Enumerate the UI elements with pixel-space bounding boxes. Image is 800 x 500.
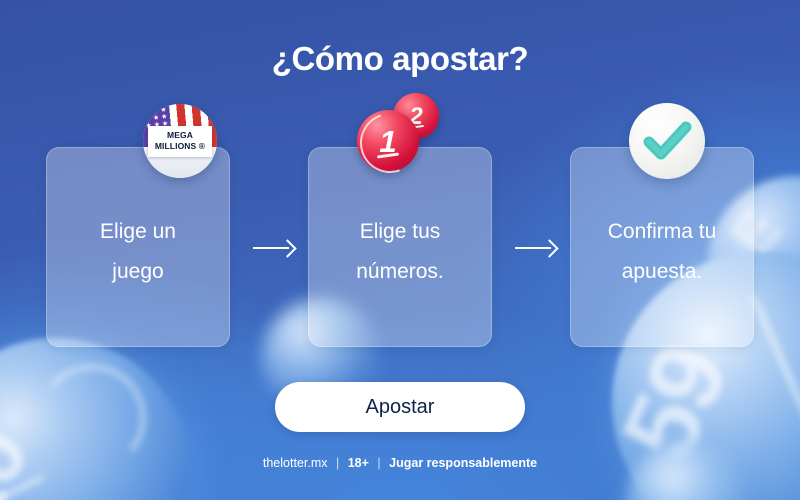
step-card-choose-game: ★★★★★★★★★★★★ MEGA MILLIONS ® Elige un ju… [46,147,230,347]
step-card-text-1: Elige un juego [47,212,229,292]
check-mark-icon [629,103,705,179]
promo-banner: 10 E 59 ¿Cómo apostar? ★★★★★★★★★★★★ MEGA… [0,0,800,500]
step-card-choose-numbers: 2 1 Elige tus números. [308,147,492,347]
footer-separator-1: | [336,456,339,470]
decorative-ball-10: 10 [0,338,190,500]
footer-responsible-gaming[interactable]: Jugar responsablemente [389,456,537,470]
arrow-head [278,239,296,257]
decorative-ball-10-number: 10 [0,409,51,500]
footer: thelotter.mx | 18+ | Jugar responsableme… [0,456,800,470]
page-title: ¿Cómo apostar? [0,40,800,78]
footer-brand[interactable]: thelotter.mx [263,456,328,470]
lottery-ball-1-icon: 1 [357,110,419,172]
arrow-right-icon [253,239,297,257]
mega-millions-label: MEGA MILLIONS ® [148,126,212,157]
decorative-ball-10-underline [0,474,45,500]
step-card-text-3: Confirma tu apuesta. [571,212,753,292]
footer-age-restriction: 18+ [348,456,369,470]
footer-separator-2: | [377,456,380,470]
arrow-right-icon [515,239,559,257]
steps-container: ★★★★★★★★★★★★ MEGA MILLIONS ® Elige un ju… [0,147,800,347]
step-card-text-2: Elige tus números. [309,212,491,292]
arrow-head [540,239,558,257]
mega-millions-logo-icon: ★★★★★★★★★★★★ MEGA MILLIONS ® [143,104,217,178]
mega-millions-line-2: MILLIONS ® [150,141,210,152]
mega-millions-line-1: MEGA [150,130,210,141]
apostar-button[interactable]: Apostar [275,382,525,432]
step-card-confirm-bet: Confirma tu apuesta. [570,147,754,347]
